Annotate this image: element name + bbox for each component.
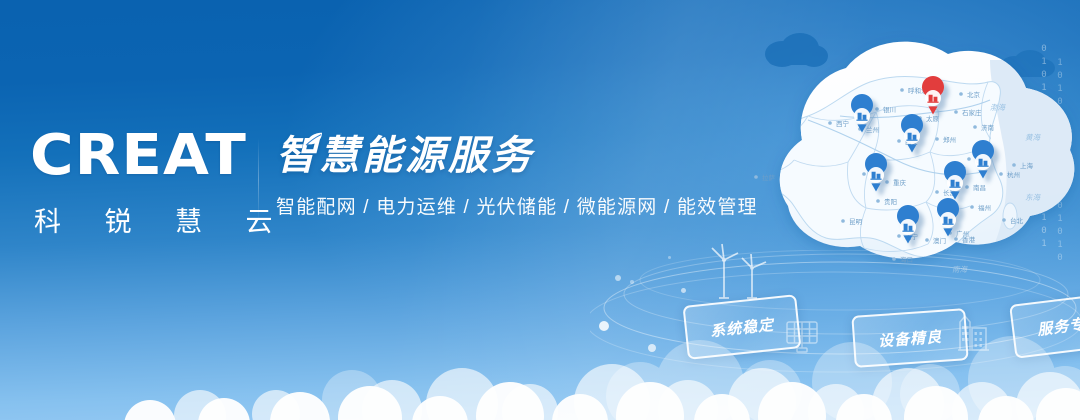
brand-block: CREAT 科 锐 慧 云	[30, 128, 280, 239]
svg-text:郑州: 郑州	[943, 136, 956, 144]
map-sea-label: 渤海	[990, 103, 1006, 112]
map-sea-label: 东海	[1025, 193, 1042, 202]
tagline-main-text: 智慧能源服务	[276, 134, 534, 178]
svg-text:海口: 海口	[900, 255, 913, 264]
feature-badge-label: 服务专业	[1036, 311, 1080, 340]
floating-dot-2	[630, 280, 634, 284]
svg-text:重庆: 重庆	[893, 178, 907, 187]
svg-text:福州: 福州	[978, 203, 991, 212]
hero-banner: 0101010101010101 1010101010101010	[0, 0, 1080, 420]
svg-text:澳门: 澳门	[933, 236, 946, 245]
svg-text:香港: 香港	[962, 235, 976, 244]
brand-chinese-name: 科 锐 慧 云	[30, 200, 280, 239]
map-sea-label: 南海	[952, 265, 968, 274]
floating-dot-1	[681, 288, 686, 293]
svg-text:北京: 北京	[967, 90, 981, 99]
brand-wordmark: CREAT	[30, 128, 295, 184]
svg-text:南昌: 南昌	[973, 183, 986, 192]
svg-text:兰州: 兰州	[866, 125, 879, 134]
svg-text:济南: 济南	[981, 123, 995, 132]
feature-badge-equipment-quality[interactable]: 设备精良	[851, 308, 968, 368]
map-sea-label: 黄海	[1025, 133, 1042, 142]
floating-dot-3	[668, 256, 671, 259]
feature-badge-label: 设备精良	[877, 325, 942, 350]
brand-divider	[258, 138, 259, 222]
svg-text:台北: 台北	[1010, 216, 1024, 225]
tagline-block: 智慧能源服务 智能配网 / 电力运维 / 光伏储能 / 微能源网 / 能效管理	[276, 134, 758, 219]
svg-text:贵阳: 贵阳	[884, 197, 897, 206]
svg-text:银川: 银川	[883, 105, 896, 114]
feature-badge-label: 系统稳定	[709, 313, 775, 341]
svg-text:上海: 上海	[1020, 161, 1034, 170]
tagline-main: 智慧能源服务	[276, 134, 534, 178]
svg-text:杭州: 杭州	[1007, 170, 1020, 179]
svg-text:西宁: 西宁	[836, 119, 850, 128]
svg-text:石家庄: 石家庄	[962, 108, 982, 117]
svg-text:拉萨: 拉萨	[762, 173, 776, 182]
svg-text:太原: 太原	[926, 114, 940, 123]
svg-text:昆明: 昆明	[849, 218, 863, 226]
tagline-sub: 智能配网 / 电力运维 / 光伏储能 / 微能源网 / 能效管理	[276, 192, 758, 219]
